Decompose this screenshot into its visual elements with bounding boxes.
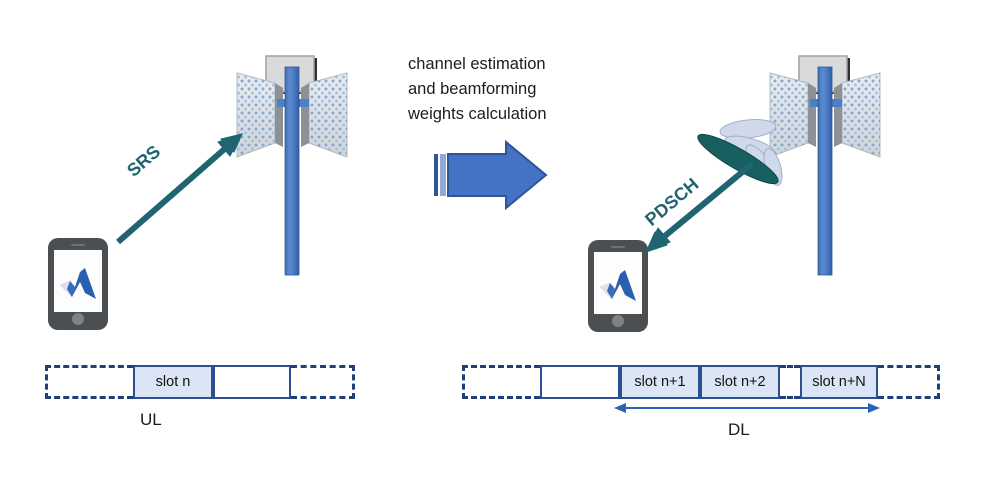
timeline-cell-empty (540, 365, 620, 399)
ul-band-label: UL (140, 410, 162, 430)
timeline-cell-dashed (45, 365, 133, 399)
matlab-logo-icon-right (598, 269, 638, 303)
timeline-cell-dashed (878, 365, 940, 399)
phone-home-button-right (612, 315, 624, 327)
diagram-canvas: channel estimation and beamforming weigh… (0, 0, 981, 498)
timeline-cell-empty (213, 365, 291, 399)
phone-home-button-left (72, 313, 84, 325)
timeline-cell-slot-n2: slot n+2 (700, 365, 780, 399)
smartphone-left (48, 238, 108, 330)
timeline-cell-slot-n: slot n (133, 365, 213, 399)
dl-band-label: DL (728, 420, 750, 440)
timeline-cell-dashed (462, 365, 540, 399)
note-line-1: channel estimation (408, 52, 546, 77)
matlab-logo-icon-left (58, 267, 98, 301)
srs-uplink-arrow (108, 120, 268, 250)
timeline-cell-slot-n1: slot n+1 (620, 365, 700, 399)
timeline-cell-slot-nN: slot n+N (800, 365, 878, 399)
phone-speaker-left (71, 244, 85, 246)
downlink-timeline: slot n+1 slot n+2 slot n+N (462, 365, 940, 399)
phone-speaker-right (611, 246, 625, 248)
process-arrow-icon (434, 140, 554, 210)
timeline-cell-dashed (780, 365, 800, 399)
timeline-cell-dashed (291, 365, 355, 399)
dl-span-arrow (612, 400, 882, 416)
uplink-timeline: slot n (45, 365, 355, 399)
note-line-3: weights calculation (408, 102, 547, 127)
note-line-2: and beamforming (408, 77, 536, 102)
